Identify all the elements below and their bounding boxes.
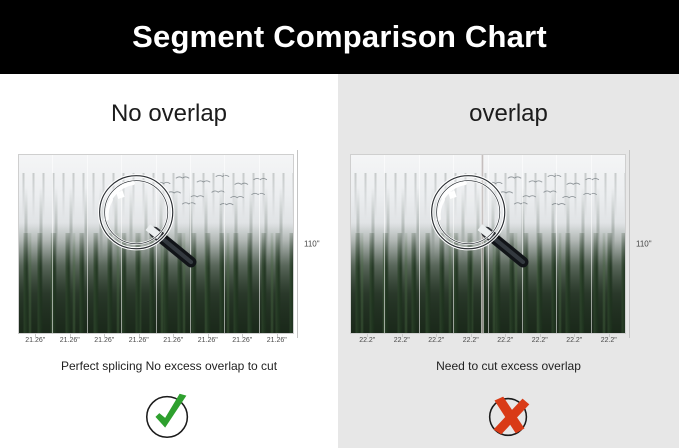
- comparison-panels: No overlap: [0, 74, 679, 448]
- segment-width-labels-overlap: 22.2" 22.2" 22.2" 22.2" 22.2" 22.2" 22.2…: [350, 337, 626, 344]
- page-title: Segment Comparison Chart: [132, 19, 547, 55]
- panel-heading-overlap: overlap: [338, 100, 679, 128]
- segment-width-label: 21.26": [53, 337, 88, 344]
- segment-width-labels-no-overlap: 21.26" 21.26" 21.26" 21.26" 21.26" 21.26…: [18, 337, 294, 344]
- segment-width-label: 22.2": [557, 337, 592, 344]
- mural-wrap-no-overlap: 110": [18, 154, 294, 334]
- segment-width-label: 22.2": [385, 337, 420, 344]
- segment-width-label: 22.2": [350, 337, 385, 344]
- segment-width-label: 22.2": [454, 337, 489, 344]
- cross-mark-icon: [480, 386, 538, 444]
- forest-mural-image-overlap: [350, 154, 626, 334]
- height-dimension-rule-overlap: [629, 150, 630, 338]
- segment-width-label: 21.26": [87, 337, 122, 344]
- segment-width-label: 22.2": [488, 337, 523, 344]
- segment-width-label: 22.2": [523, 337, 558, 344]
- segment-width-label: 21.26": [122, 337, 157, 344]
- title-banner: Segment Comparison Chart: [0, 0, 679, 74]
- segment-width-label: 21.26": [156, 337, 191, 344]
- caption-no-overlap: Perfect splicing No excess overlap to cu…: [0, 359, 338, 373]
- panel-heading-no-overlap: No overlap: [0, 100, 338, 128]
- segment-width-label: 21.26": [260, 337, 295, 344]
- figure-no-overlap: 110" 21.26" 21.26" 21.26" 21.26" 21.26" …: [18, 154, 294, 344]
- segment-width-label: 21.26": [225, 337, 260, 344]
- height-dimension-label-overlap: 110": [636, 240, 652, 249]
- segment-width-label: 22.2": [592, 337, 627, 344]
- mural-wrap-overlap: 110": [350, 154, 626, 334]
- forest-mural-image-no-overlap: [18, 154, 294, 334]
- figure-overlap: 110" 22.2" 22.2" 22.2" 22.2" 22.2" 22.2"…: [350, 154, 626, 344]
- caption-overlap: Need to cut excess overlap: [338, 359, 679, 373]
- verdict-overlap: [338, 386, 679, 444]
- height-dimension-label-no-overlap: 110": [304, 240, 320, 249]
- segment-comparison-chart: Segment Comparison Chart No overlap: [0, 0, 679, 448]
- segment-width-label: 21.26": [18, 337, 53, 344]
- verdict-no-overlap: [0, 386, 338, 444]
- segment-width-label: 22.2": [419, 337, 454, 344]
- height-dimension-rule-no-overlap: [297, 150, 298, 338]
- check-mark-icon: [140, 386, 198, 444]
- segment-width-label: 21.26": [191, 337, 226, 344]
- panel-no-overlap: No overlap: [0, 74, 338, 448]
- near-trees-decoration: [351, 233, 625, 333]
- panel-overlap: overlap: [338, 74, 679, 448]
- overlap-seam-defect: [481, 155, 484, 333]
- birds-icon: [151, 171, 277, 210]
- birds-icon: [483, 171, 609, 210]
- near-trees-decoration: [19, 233, 293, 333]
